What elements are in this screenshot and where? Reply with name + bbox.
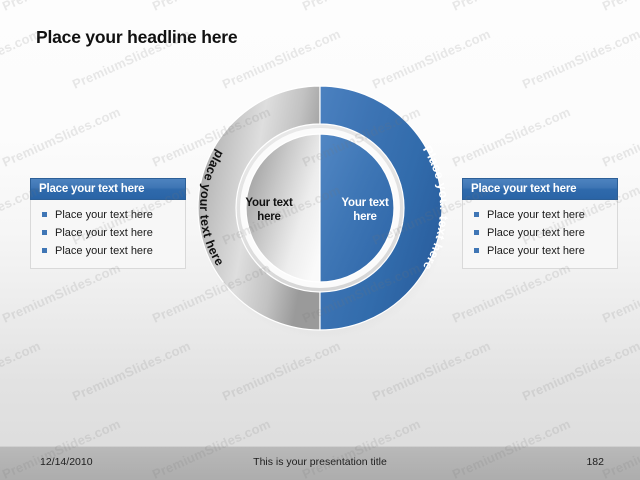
watermark-text: PremiumSlides.com — [600, 0, 640, 14]
inner-left-label: Your text here — [236, 196, 302, 224]
watermark-text: PremiumSlides.com — [0, 260, 123, 326]
footer-page-number: 182 — [586, 456, 604, 468]
bullet-icon — [42, 248, 47, 253]
inner-right-label: Your text here — [333, 196, 397, 224]
right-text-box-body: Place your text here Place your text her… — [462, 200, 618, 269]
left-text-box[interactable]: Place your text here Place your text her… — [30, 178, 186, 269]
watermark-text: PremiumSlides.com — [300, 0, 423, 14]
list-item-label: Place your text here — [55, 243, 153, 259]
watermark-text: PremiumSlides.com — [0, 338, 43, 404]
slide-footer: 12/14/2010 This is your presentation tit… — [0, 446, 640, 480]
right-text-box[interactable]: Place your text here Place your text her… — [462, 178, 618, 269]
footer-title: This is your presentation title — [0, 456, 640, 468]
left-text-box-body: Place your text here Place your text her… — [30, 200, 186, 269]
list-item-label: Place your text here — [487, 243, 585, 259]
right-text-box-header: Place your text here — [462, 178, 618, 200]
bullet-icon — [474, 212, 479, 217]
watermark-text: PremiumSlides.com — [600, 104, 640, 170]
list-item: Place your text here — [38, 243, 179, 259]
watermark-text: PremiumSlides.com — [600, 260, 640, 326]
list-item: Place your text here — [470, 225, 611, 241]
left-text-box-header: Place your text here — [30, 178, 186, 200]
slide-canvas: Place your headline here — [0, 0, 640, 480]
list-item: Place your text here — [470, 207, 611, 223]
list-item: Place your text here — [38, 225, 179, 241]
list-item-label: Place your text here — [55, 207, 153, 223]
bullet-icon — [474, 230, 479, 235]
list-item: Place your text here — [38, 207, 179, 223]
bullet-icon — [42, 212, 47, 217]
watermark-text: PremiumSlides.com — [450, 104, 573, 170]
watermark-text: PremiumSlides.com — [520, 26, 640, 92]
watermark-text: PremiumSlides.com — [0, 0, 123, 14]
watermark-text: PremiumSlides.com — [450, 260, 573, 326]
list-item-label: Place your text here — [55, 225, 153, 241]
watermark-text: PremiumSlides.com — [0, 104, 123, 170]
list-item-label: Place your text here — [487, 207, 585, 223]
bullet-icon — [474, 248, 479, 253]
watermark-text: PremiumSlides.com — [150, 0, 273, 14]
watermark-text: PremiumSlides.com — [70, 338, 193, 404]
watermark-text: PremiumSlides.com — [370, 338, 493, 404]
bullet-icon — [42, 230, 47, 235]
watermark-text: PremiumSlides.com — [450, 0, 573, 14]
watermark-text: PremiumSlides.com — [520, 338, 640, 404]
list-item-label: Place your text here — [487, 225, 585, 241]
donut-diagram: place your text here Place your text her… — [190, 78, 450, 338]
page-title: Place your headline here — [36, 27, 237, 48]
list-item: Place your text here — [470, 243, 611, 259]
watermark-text: PremiumSlides.com — [220, 338, 343, 404]
